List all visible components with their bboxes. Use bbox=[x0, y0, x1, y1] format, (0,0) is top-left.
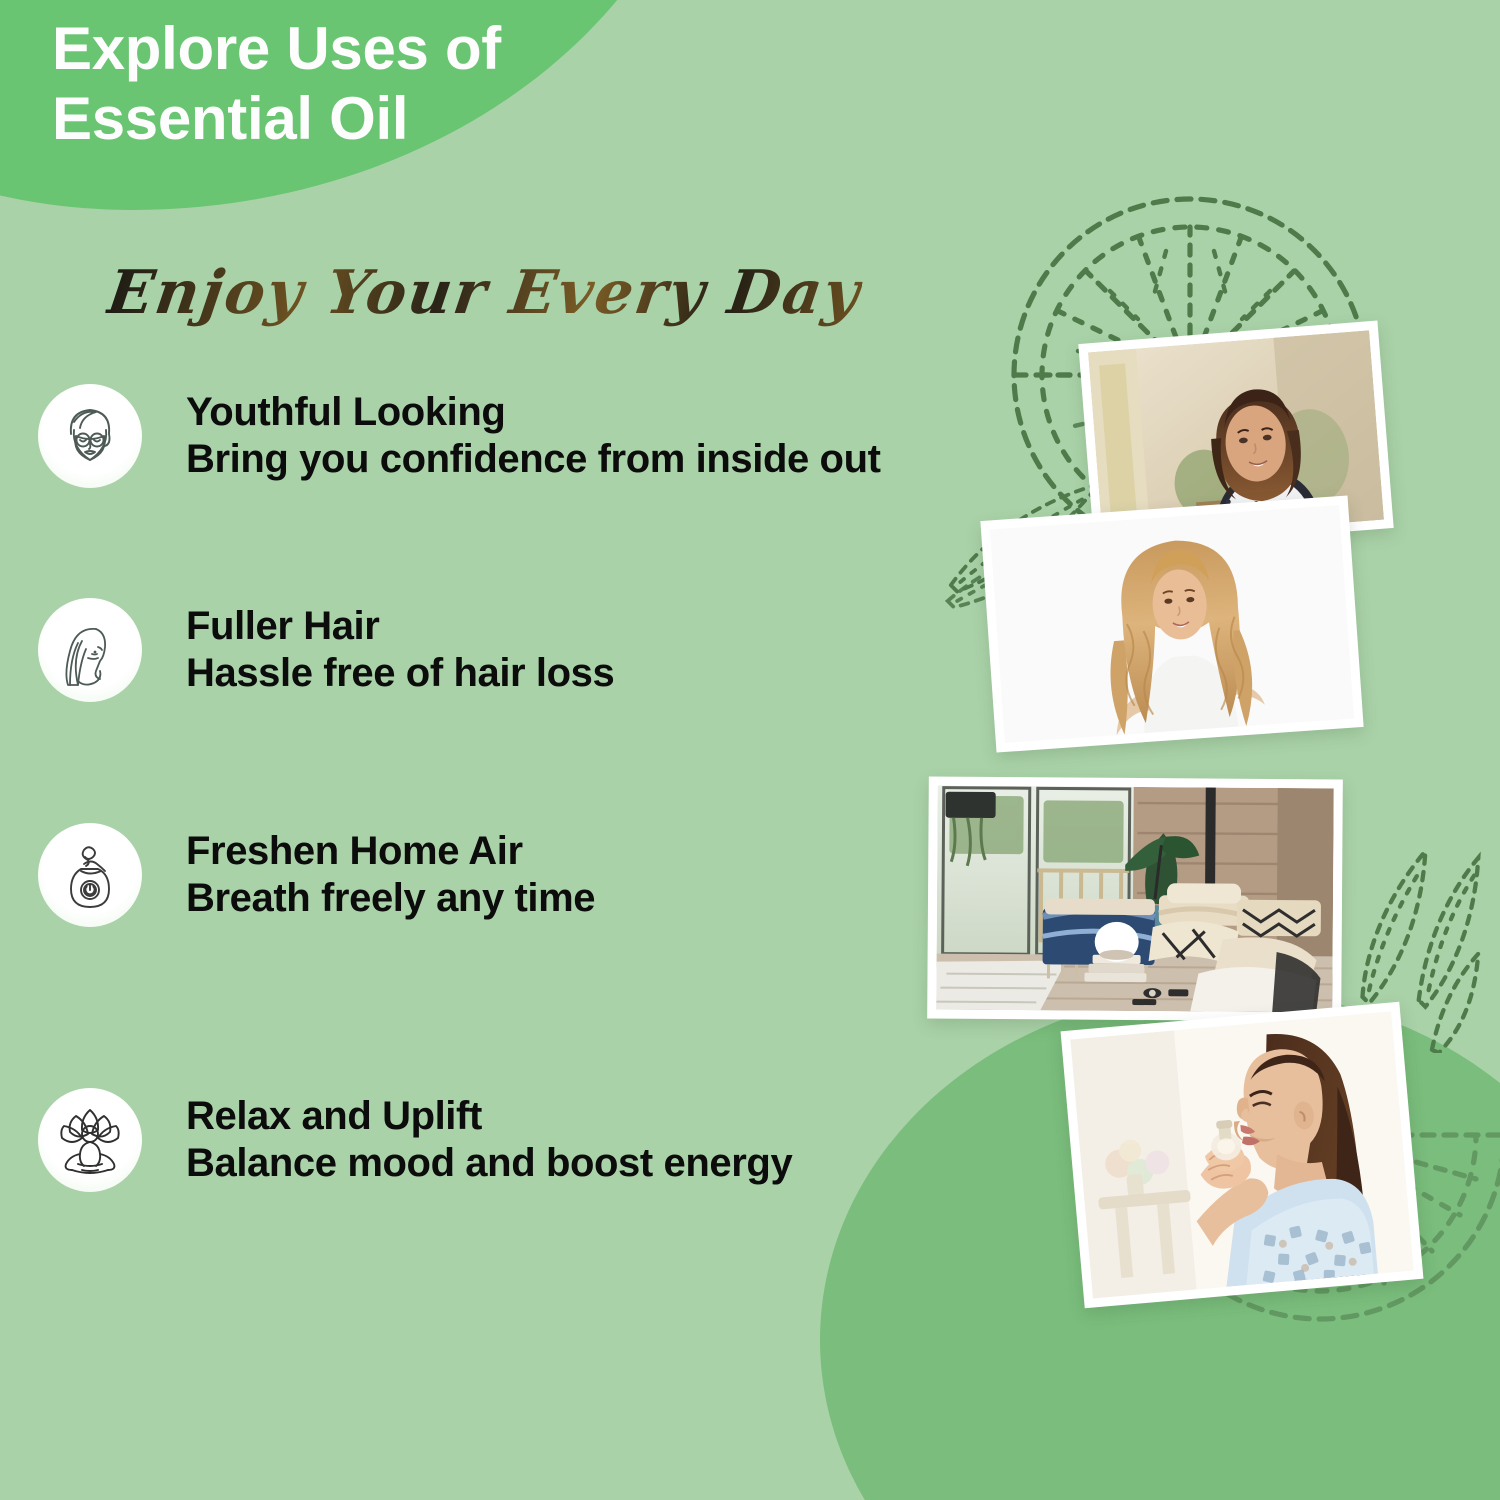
tagline: Enjoy Your Every Day bbox=[103, 258, 865, 328]
face-mask-icon bbox=[38, 384, 142, 488]
long-hair-icon bbox=[38, 598, 142, 702]
feature-row-relax-and-uplift: Relax and Uplift Balance mood and boost … bbox=[38, 1088, 792, 1192]
lotus-meditation-icon bbox=[38, 1088, 142, 1192]
photo-woman-applying-fragrance bbox=[1061, 1002, 1424, 1309]
diffuser-icon bbox=[38, 823, 142, 927]
page-title: Explore Uses of Essential Oil bbox=[52, 14, 501, 153]
feature-title: Freshen Home Air bbox=[186, 828, 595, 875]
feature-subtitle: Hassle free of hair loss bbox=[186, 650, 614, 697]
feature-row-freshen-home-air: Freshen Home Air Breath freely any time bbox=[38, 823, 595, 927]
feature-title: Youthful Looking bbox=[186, 389, 881, 436]
feature-title: Relax and Uplift bbox=[186, 1093, 792, 1140]
infographic-canvas: Explore Uses of Essential Oil Enjoy Your… bbox=[0, 0, 1500, 1500]
feature-row-fuller-hair: Fuller Hair Hassle free of hair loss bbox=[38, 598, 614, 702]
feature-title: Fuller Hair bbox=[186, 603, 614, 650]
feature-subtitle: Balance mood and boost energy bbox=[186, 1140, 792, 1187]
feature-subtitle: Bring you confidence from inside out bbox=[186, 436, 881, 483]
feature-row-youthful-looking: Youthful Looking Bring you confidence fr… bbox=[38, 384, 881, 488]
photo-long-blonde-wavy-hair bbox=[980, 495, 1363, 752]
feature-subtitle: Breath freely any time bbox=[186, 875, 595, 922]
photo-cozy-living-room-diffuser bbox=[927, 777, 1343, 1022]
